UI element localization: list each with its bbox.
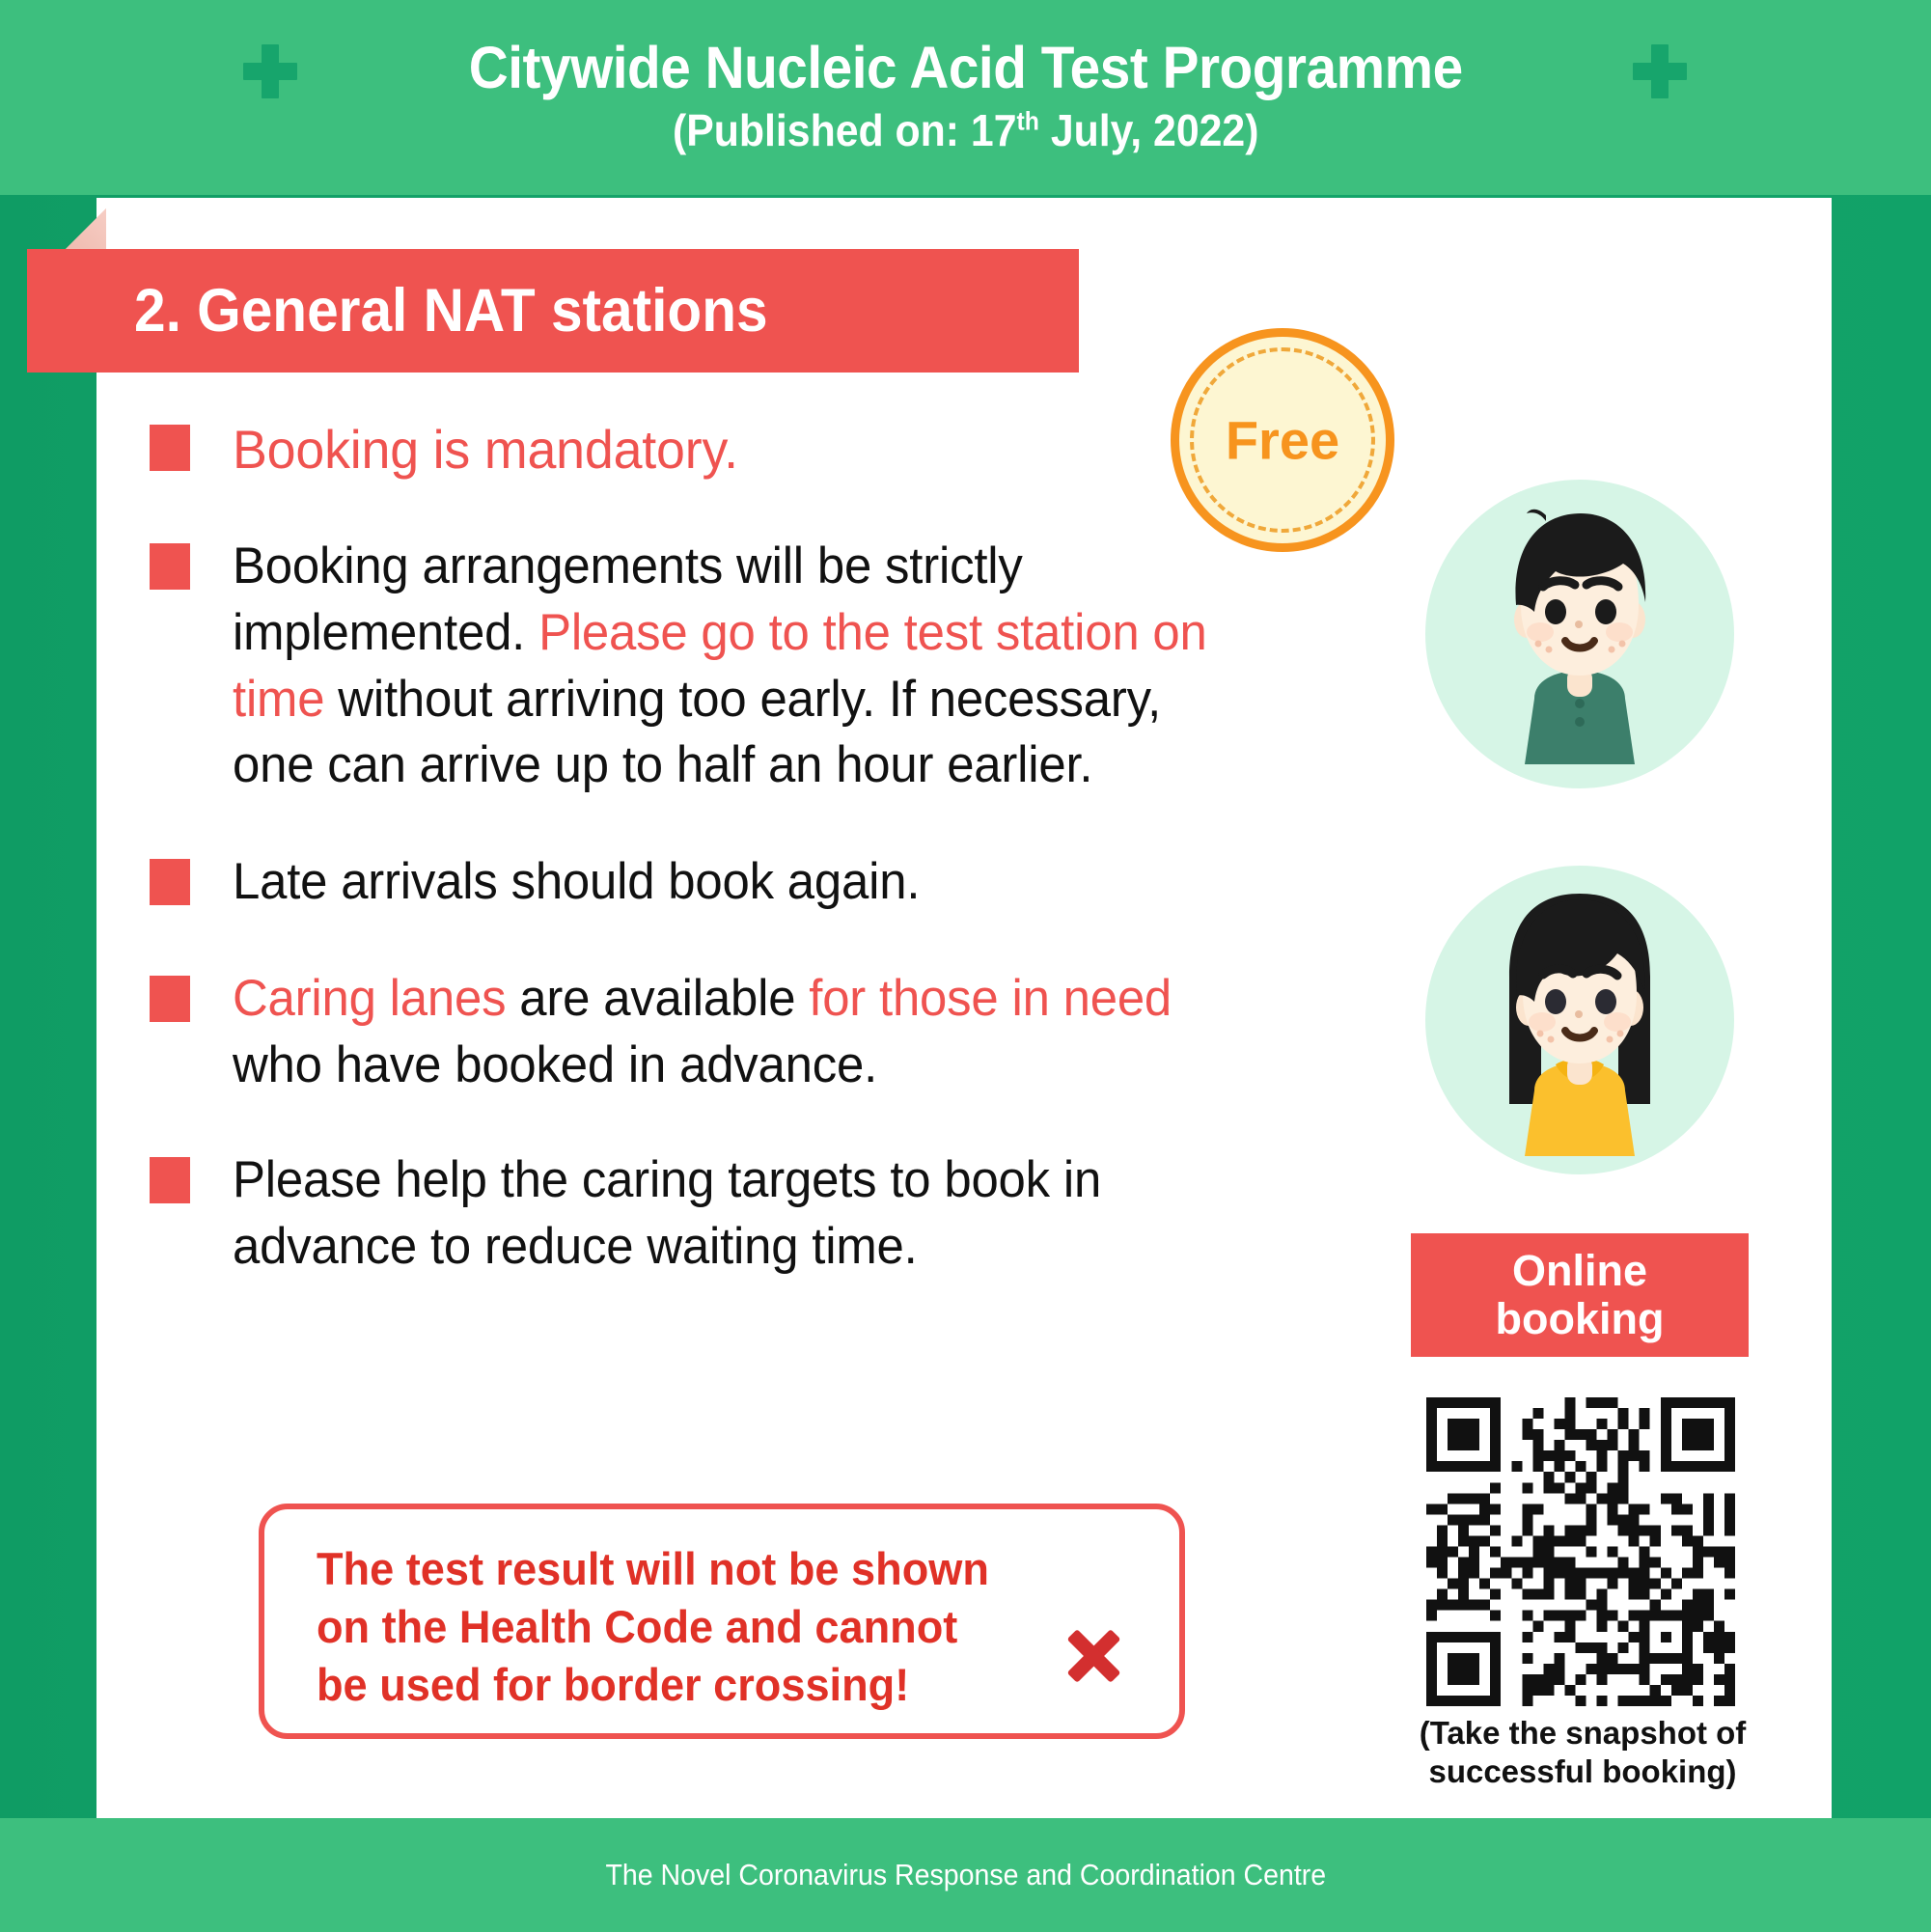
page-title: Citywide Nucleic Acid Test Programme <box>469 37 1463 100</box>
bullet-square-icon <box>150 1157 190 1203</box>
qr-code-icon[interactable] <box>1426 1397 1735 1706</box>
published-suffix: July, 2022) <box>1039 105 1259 155</box>
header-band: Citywide Nucleic Acid Test Programme (Pu… <box>0 0 1931 195</box>
warning-line-1: The test result will not be shown <box>317 1540 1076 1598</box>
footer-band: The Novel Coronavirus Response and Coord… <box>0 1818 1931 1932</box>
section-banner: 2. General NAT stations <box>27 249 1079 373</box>
warning-text: The test result will not be shown on the… <box>317 1540 1076 1714</box>
bullet-list: Booking is mandatory. Booking arrangemen… <box>150 415 1337 1281</box>
section-banner-label: 2. General NAT stations <box>134 276 768 345</box>
qr-caption-line2: successful booking) <box>1370 1753 1795 1791</box>
footer-text: The Novel Coronavirus Response and Coord… <box>605 1858 1326 1892</box>
published-ordinal: th <box>1016 107 1038 136</box>
male-avatar-icon <box>1421 475 1739 793</box>
red-x-icon <box>1065 1629 1119 1683</box>
warning-line-2: on the Health Code and cannot <box>317 1598 1076 1656</box>
bullet-text: Late arrivals should book again. <box>233 849 1292 916</box>
list-item: Late arrivals should book again. <box>150 849 1337 916</box>
bullet-square-icon <box>150 425 190 471</box>
list-item: Caring lanes are available for those in … <box>150 966 1288 1099</box>
online-booking-label: Online booking <box>1411 1233 1749 1357</box>
published-prefix: (Published on: 17 <box>673 105 1017 155</box>
bullet-text: Booking arrangements will be strictly im… <box>233 534 1246 800</box>
bullet-text: Caring lanes are available for those in … <box>233 966 1246 1099</box>
warning-line-3: be used for border crossing! <box>317 1656 1076 1714</box>
list-item: Please help the caring targets to book i… <box>150 1147 1298 1281</box>
qr-caption-line1: (Take the snapshot of <box>1370 1714 1795 1753</box>
online-booking-line1: Online <box>1512 1247 1647 1295</box>
bullet-square-icon <box>150 859 190 905</box>
published-date: (Published on: 17th July, 2022) <box>469 104 1463 157</box>
free-badge: Free <box>1171 328 1394 552</box>
online-booking-line2: booking <box>1496 1295 1665 1343</box>
list-item: Booking is mandatory. <box>150 415 1337 485</box>
female-avatar-icon <box>1421 861 1739 1179</box>
bullet-text: Booking is mandatory. <box>233 415 1292 485</box>
bullet-square-icon <box>150 543 190 590</box>
free-badge-label: Free <box>1179 409 1386 472</box>
list-item: Booking arrangements will be strictly im… <box>150 534 1288 800</box>
bullet-text: Please help the caring targets to book i… <box>233 1147 1255 1281</box>
qr-caption: (Take the snapshot of successful booking… <box>1370 1714 1795 1792</box>
poster-root: Citywide Nucleic Acid Test Programme (Pu… <box>0 0 1931 1932</box>
bullet-square-icon <box>150 976 190 1022</box>
warning-box: The test result will not be shown on the… <box>259 1504 1185 1739</box>
